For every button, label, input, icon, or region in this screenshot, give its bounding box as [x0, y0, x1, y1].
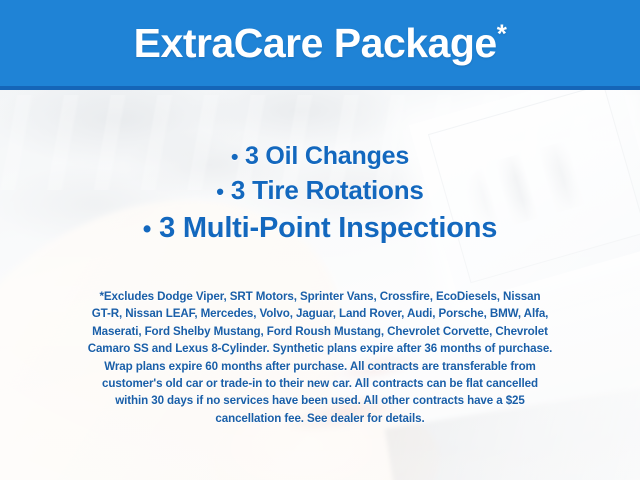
bullet-marker-icon: •: [143, 216, 151, 243]
disclaimer-line: customer's old car or trade-in to their …: [22, 375, 618, 392]
feature-list: • 3 Oil Changes • 3 Tire Rotations • 3 M…: [0, 140, 640, 249]
disclaimer-line: Camaro SS and Lexus 8-Cylinder. Syntheti…: [22, 340, 618, 357]
list-item: • 3 Tire Rotations: [0, 173, 640, 209]
disclaimer-line: Wrap plans expire 60 months after purcha…: [22, 358, 618, 375]
list-item-label: 3 Multi-Point Inspections: [159, 212, 497, 244]
disclaimer-text: *Excludes Dodge Viper, SRT Motors, Sprin…: [22, 288, 618, 427]
page-title-asterisk: *: [497, 18, 507, 48]
page-title-text: ExtraCare Package: [134, 20, 497, 66]
disclaimer-line: within 30 days if no services have been …: [22, 392, 618, 409]
disclaimer-line: Maserati, Ford Shelby Mustang, Ford Rous…: [22, 323, 618, 340]
bullet-marker-icon: •: [231, 145, 238, 169]
bullet-marker-icon: •: [216, 179, 224, 204]
header-banner: ExtraCare Package*: [0, 0, 640, 90]
disclaimer-line: *Excludes Dodge Viper, SRT Motors, Sprin…: [22, 288, 618, 305]
disclaimer-line: cancellation fee. See dealer for details…: [22, 410, 618, 427]
page-title: ExtraCare Package*: [134, 23, 507, 64]
list-item: • 3 Multi-Point Inspections: [0, 209, 640, 249]
disclaimer-line: GT-R, Nissan LEAF, Mercedes, Volvo, Jagu…: [22, 305, 618, 322]
extracare-promo-graphic: ExtraCare Package* • 3 Oil Changes • 3 T…: [0, 0, 640, 480]
list-item-label: 3 Tire Rotations: [231, 175, 424, 205]
list-item-label: 3 Oil Changes: [245, 142, 409, 170]
list-item: • 3 Oil Changes: [0, 140, 640, 173]
